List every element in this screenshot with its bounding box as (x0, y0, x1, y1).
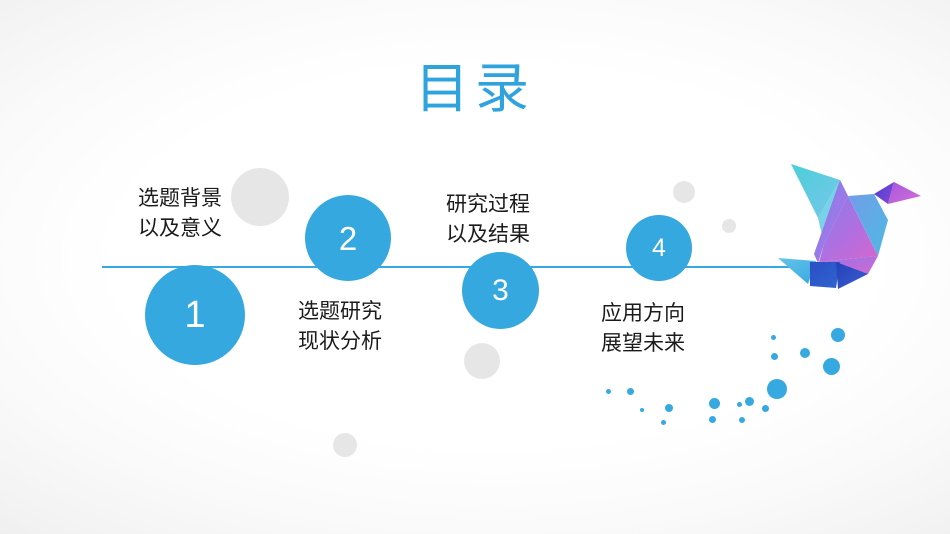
decor-blue-dot (831, 328, 845, 342)
timeline-number-2-label: 2 (339, 222, 357, 255)
decor-blue-dot (771, 353, 778, 360)
decor-blue-dot (737, 402, 742, 407)
timeline-number-4[interactable]: 4 (626, 215, 692, 281)
timeline-item-4-text: 应用方向 展望未来 (601, 299, 685, 359)
timeline-number-3-label: 3 (492, 276, 509, 306)
decor-gray-circle (231, 168, 289, 226)
timeline-item-3-text: 研究过程 以及结果 (446, 190, 530, 250)
decor-blue-dot (771, 335, 776, 340)
slide-canvas: 目录 1 选题背景 以及意义 2 选题研究 现状分析 3 研究过程 以及结果 4… (0, 0, 950, 534)
decor-gray-circle (464, 343, 500, 379)
decor-blue-dot (762, 405, 769, 412)
page-title: 目录 (0, 62, 950, 116)
decor-blue-dot (767, 379, 787, 399)
decor-blue-dot (823, 358, 840, 375)
timeline-number-2[interactable]: 2 (305, 195, 391, 281)
decor-blue-dot (606, 389, 611, 394)
decor-blue-dot (640, 408, 644, 412)
decor-blue-dot (661, 420, 666, 425)
decor-blue-dot (739, 417, 745, 423)
timeline-number-4-label: 4 (652, 236, 666, 261)
timeline-item-1-line2: 以及意义 (138, 214, 222, 244)
timeline-item-2-line1: 选题研究 (298, 300, 382, 323)
decor-gray-circle (722, 219, 736, 233)
decor-blue-dot (709, 416, 716, 423)
timeline-item-3-line2: 以及结果 (446, 220, 530, 250)
decor-blue-dot (800, 348, 810, 358)
decor-gray-circle (333, 433, 357, 457)
timeline-item-4-line1: 应用方向 (601, 302, 685, 325)
timeline-number-1-label: 1 (184, 296, 205, 334)
timeline-number-1[interactable]: 1 (145, 265, 245, 365)
origami-bird-icon (778, 158, 928, 298)
decor-gray-circle (673, 181, 695, 203)
timeline-item-1-text: 选题背景 以及意义 (138, 184, 222, 244)
decor-blue-dot (745, 397, 754, 406)
timeline-item-3-line1: 研究过程 (446, 193, 530, 216)
decor-blue-dot (627, 388, 634, 395)
decor-blue-dot (709, 398, 720, 409)
decor-blue-dot (665, 404, 673, 412)
timeline-item-1-line1: 选题背景 (138, 187, 222, 210)
timeline-number-3[interactable]: 3 (462, 252, 539, 329)
timeline-item-2-text: 选题研究 现状分析 (298, 297, 382, 357)
timeline-item-2-line2: 现状分析 (298, 327, 382, 357)
timeline-item-4-line2: 展望未来 (601, 329, 685, 359)
